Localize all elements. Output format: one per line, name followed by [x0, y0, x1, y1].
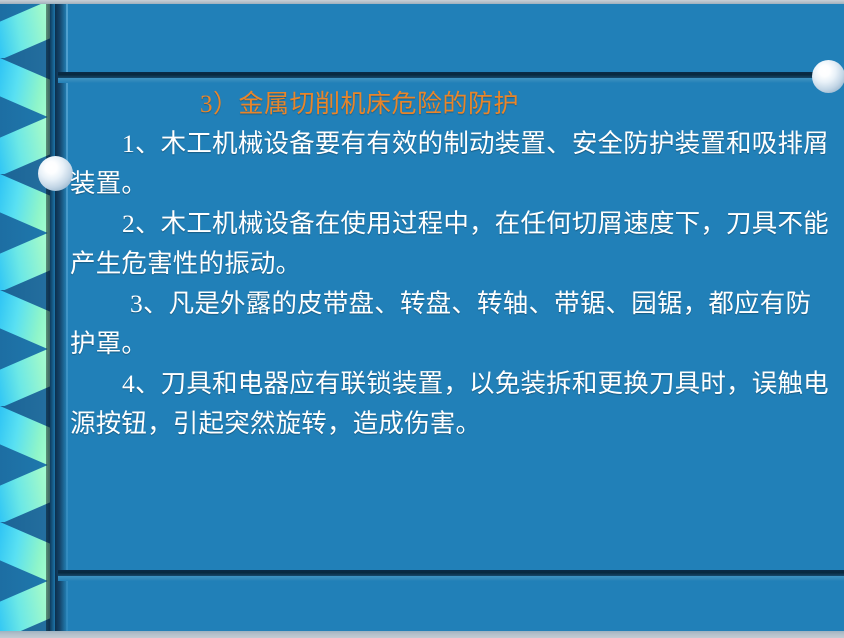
body-paragraph-4: 4、刀具和电器应有联锁装置，以免装拆和更换刀具时，误触电源按钮，引起突然旋转，造…	[70, 364, 830, 444]
body-paragraph-1: 1、木工机械设备要有有效的制动装置、安全防护装置和吸排屑装置。	[70, 124, 830, 204]
slide-body: 3）金属切削机床危险的防护 1、木工机械设备要有有效的制动装置、安全防护装置和吸…	[70, 86, 830, 556]
frame-vertical-highlight	[66, 0, 68, 638]
rail-light-line	[58, 576, 844, 581]
rail-light-line	[58, 78, 830, 83]
bullet-sphere-left	[38, 156, 73, 191]
page-edge-bottom	[0, 631, 844, 638]
body-paragraph-2: 2、木工机械设备在使用过程中，在任何切屑速度下，刀具不能产生危害性的振动。	[70, 204, 830, 284]
divider-rail-bottom	[58, 570, 844, 581]
page-edge-top	[0, 0, 844, 4]
body-paragraph-3: 3、凡是外露的皮带盘、转盘、转轴、带锯、园锯，都应有防护罩。	[70, 284, 830, 364]
decorative-ribbon	[0, 0, 50, 638]
slide-canvas: 3）金属切削机床危险的防护 1、木工机械设备要有有效的制动装置、安全防护装置和吸…	[0, 0, 844, 638]
divider-rail-top	[58, 72, 830, 83]
slide-subtitle: 3）金属切削机床危险的防护	[200, 86, 830, 124]
